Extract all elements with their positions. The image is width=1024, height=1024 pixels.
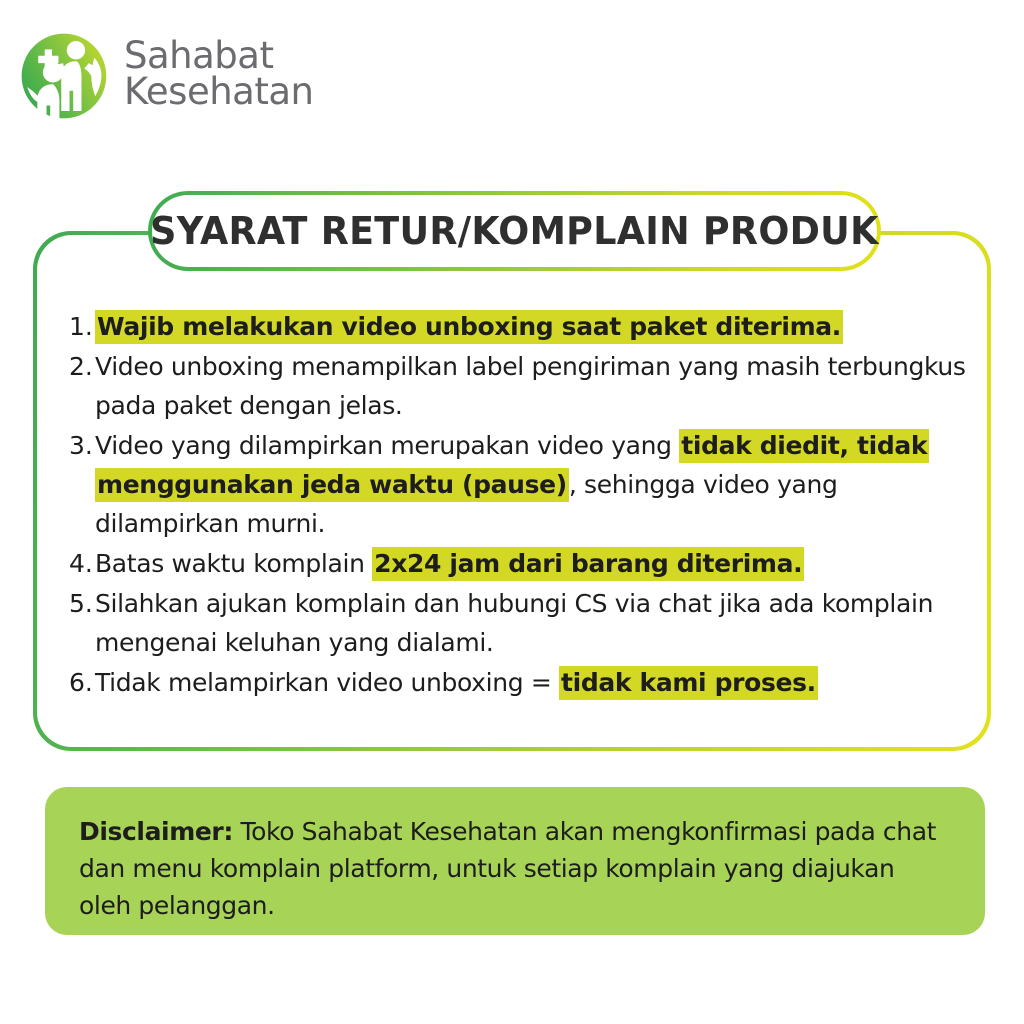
page-title: SYARAT RETUR/KOMPLAIN PRODUK bbox=[150, 209, 878, 253]
terms-card-inner: 1.Wajib melakukan video unboxing saat pa… bbox=[37, 235, 987, 747]
disclaimer-label: Disclaimer: bbox=[79, 817, 233, 846]
page-title-pill-inner: SYARAT RETUR/KOMPLAIN PRODUK bbox=[152, 195, 877, 267]
terms-list-item-number: 6. bbox=[55, 663, 95, 702]
brand-name: Sahabat Kesehatan bbox=[124, 38, 313, 115]
terms-list-item-number: 3. bbox=[55, 426, 95, 465]
plain-text: Tidak melampirkan video unboxing = bbox=[95, 668, 559, 697]
highlighted-text: Wajib melakukan video unboxing saat pake… bbox=[95, 310, 843, 344]
disclaimer-box: Disclaimer: Toko Sahabat Kesehatan akan … bbox=[45, 787, 985, 935]
terms-list-item: 2.Video unboxing menampilkan label pengi… bbox=[55, 347, 977, 425]
terms-list-item-text: Video unboxing menampilkan label pengiri… bbox=[95, 347, 977, 425]
brand-name-line2: Kesehatan bbox=[124, 74, 313, 110]
page-title-pill: SYARAT RETUR/KOMPLAIN PRODUK bbox=[148, 191, 881, 271]
plain-text: Batas waktu komplain bbox=[95, 549, 372, 578]
terms-list-item-number: 1. bbox=[55, 307, 95, 346]
terms-list-item-text: Tidak melampirkan video unboxing = tidak… bbox=[95, 663, 977, 702]
terms-list-item: 3.Video yang dilampirkan merupakan video… bbox=[55, 426, 977, 543]
terms-list-item-text: Video yang dilampirkan merupakan video y… bbox=[95, 426, 977, 543]
terms-list-item: 6.Tidak melampirkan video unboxing = tid… bbox=[55, 663, 977, 702]
terms-list-item: 4.Batas waktu komplain 2x24 jam dari bar… bbox=[55, 544, 977, 583]
terms-list-item-text: Silahkan ajukan komplain dan hubungi CS … bbox=[95, 584, 977, 662]
terms-list-item-text: Wajib melakukan video unboxing saat pake… bbox=[95, 307, 977, 346]
terms-list-item: 1.Wajib melakukan video unboxing saat pa… bbox=[55, 307, 977, 346]
terms-list: 1.Wajib melakukan video unboxing saat pa… bbox=[55, 307, 977, 703]
terms-card: 1.Wajib melakukan video unboxing saat pa… bbox=[33, 231, 991, 751]
plain-text: Video yang dilampirkan merupakan video y… bbox=[95, 431, 679, 460]
terms-list-item: 5.Silahkan ajukan komplain dan hubungi C… bbox=[55, 584, 977, 662]
highlighted-text: tidak kami proses. bbox=[559, 666, 818, 700]
disclaimer-text: Disclaimer: Toko Sahabat Kesehatan akan … bbox=[79, 813, 951, 924]
highlighted-text: 2x24 jam dari barang diterima. bbox=[372, 547, 804, 581]
plain-text: Silahkan ajukan komplain dan hubungi CS … bbox=[95, 589, 933, 657]
terms-list-item-number: 4. bbox=[55, 544, 95, 583]
health-family-circle-icon bbox=[18, 30, 110, 122]
brand-logo: Sahabat Kesehatan bbox=[18, 30, 313, 122]
terms-list-item-number: 2. bbox=[55, 347, 95, 386]
brand-name-line1: Sahabat bbox=[124, 38, 313, 74]
terms-list-item-number: 5. bbox=[55, 584, 95, 623]
terms-list-item-text: Batas waktu komplain 2x24 jam dari baran… bbox=[95, 544, 977, 583]
plain-text: Video unboxing menampilkan label pengiri… bbox=[95, 352, 966, 420]
